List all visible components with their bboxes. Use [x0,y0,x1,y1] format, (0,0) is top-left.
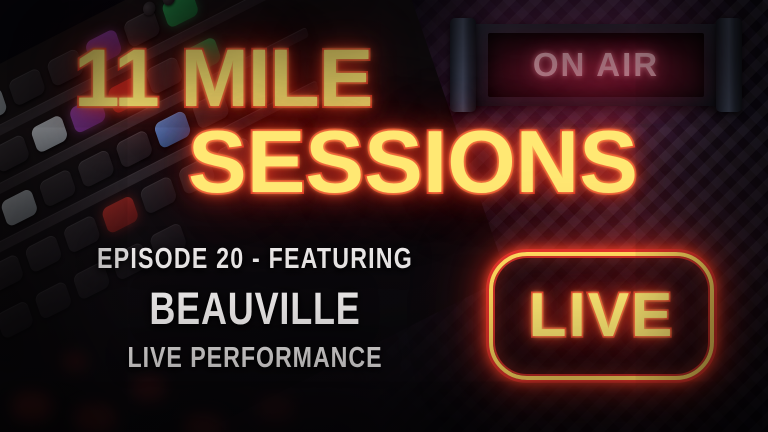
on-air-label: ON AIR [533,46,659,84]
on-air-sign: ON AIR [462,24,730,106]
promo-banner: ON AIR 11 MILE SESSIONS LIVE EPISODE 20 … [0,0,768,432]
on-air-post-right [716,18,742,112]
on-air-screen: ON AIR [488,33,704,97]
on-air-post-left [450,18,476,112]
live-badge-label: LIVE [529,285,675,347]
live-badge: LIVE [489,252,714,380]
